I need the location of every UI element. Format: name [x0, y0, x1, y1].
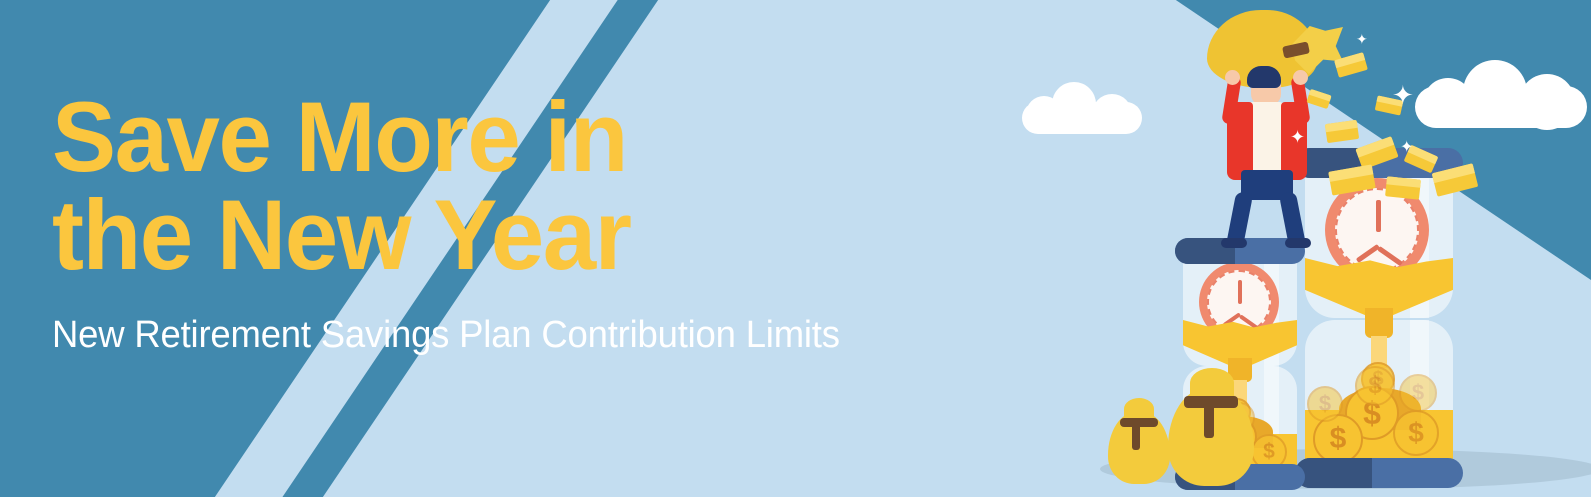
gold-bar — [1325, 120, 1359, 143]
page-subtitle: New Retirement Savings Plan Contribution… — [52, 314, 974, 357]
sparkle-icon: ✦ — [1392, 82, 1414, 108]
hair — [1247, 66, 1281, 88]
coin: $ — [1307, 386, 1343, 422]
copy-block: Save More in the New Year New Retirement… — [52, 88, 1012, 357]
page-title: Save More in the New Year — [52, 88, 983, 284]
clock-hand-hour — [1376, 200, 1381, 232]
coin: $ — [1355, 366, 1395, 406]
sparkle-icon: ✦ — [1290, 128, 1305, 146]
person-lifting-money-bag — [1195, 10, 1335, 240]
clock-face — [1335, 188, 1419, 272]
jacket-left-panel — [1227, 102, 1253, 180]
cloud-right-icon — [1415, 60, 1587, 128]
gold-bar — [1385, 176, 1421, 199]
coin: $ — [1399, 374, 1437, 412]
clock-hand-minute — [1377, 246, 1403, 266]
clock-hand-second — [1356, 244, 1380, 263]
hand-left — [1225, 70, 1240, 85]
hourglass-large-cap-bottom — [1295, 458, 1463, 488]
sparkle-icon: ✦ — [1356, 32, 1368, 46]
hand-right — [1293, 70, 1308, 85]
hourglass-large-neck — [1365, 308, 1393, 338]
money-bag-large — [1168, 388, 1254, 486]
sparkle-icon: ✦ — [1400, 140, 1413, 156]
promo-banner: Save More in the New Year New Retirement… — [0, 0, 1591, 497]
money-bag-small — [1108, 412, 1170, 484]
cloud-left-icon — [1022, 82, 1142, 134]
shoe-right — [1285, 238, 1311, 248]
illustration: $ $ $ $ $ $ $ — [1040, 0, 1591, 497]
coin: $ — [1393, 410, 1439, 456]
clock-hand-hour — [1238, 280, 1242, 304]
shoe-left — [1221, 238, 1247, 248]
